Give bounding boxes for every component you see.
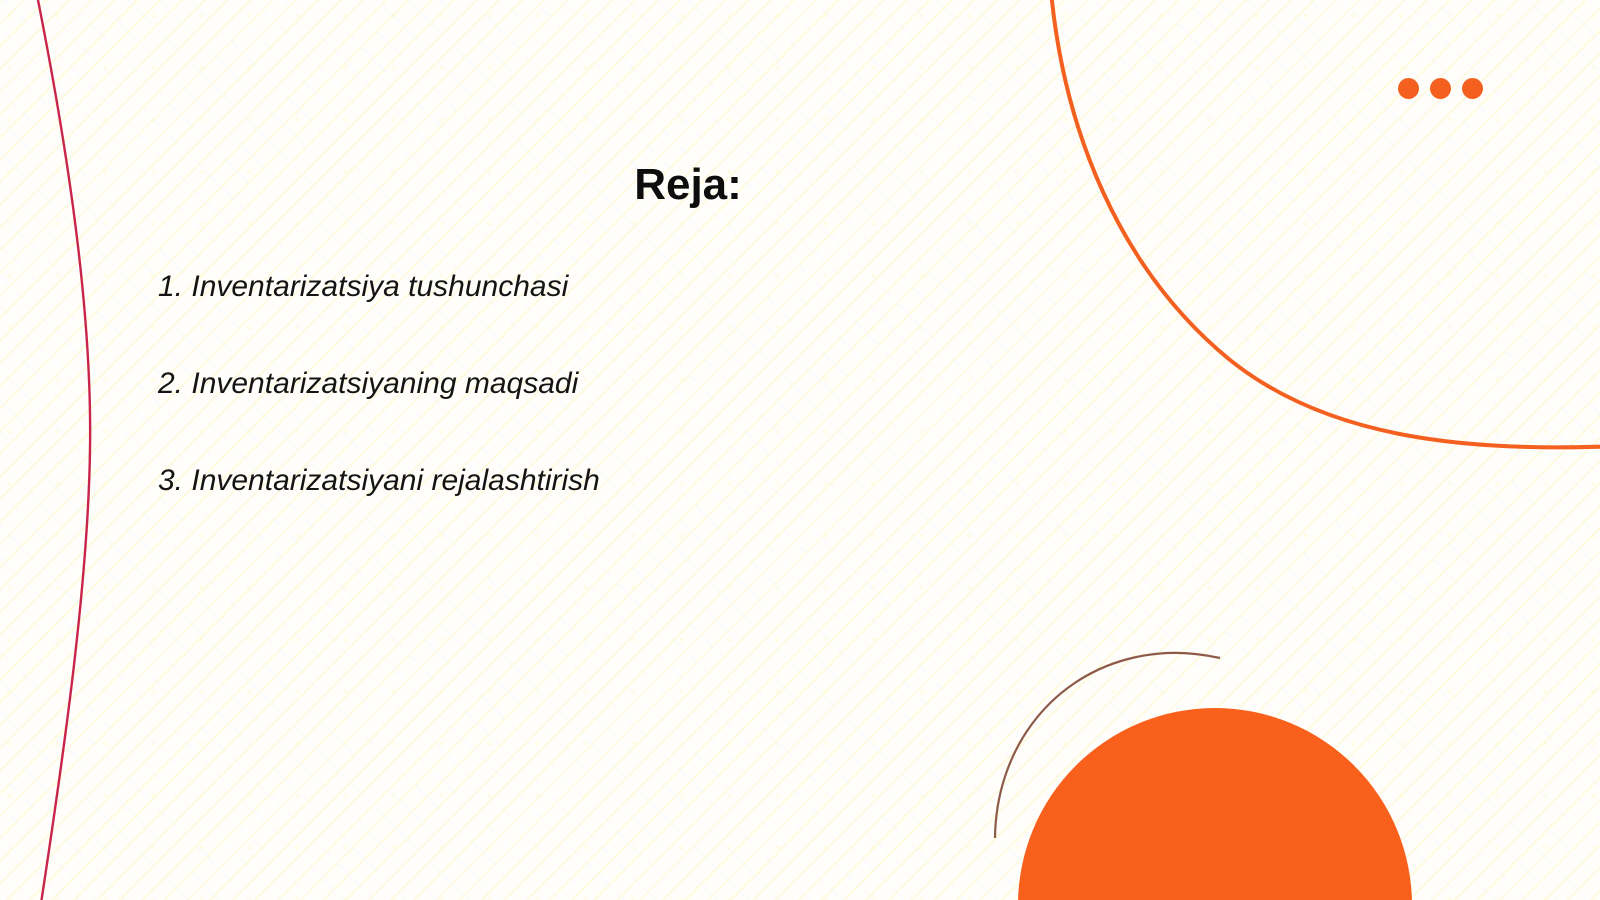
list-item: 1. Inventarizatsiya tushunchasi	[158, 272, 600, 302]
slide-content: Reja: 1. Inventarizatsiya tushunchasi 2.…	[0, 0, 1600, 900]
presentation-slide: Reja: 1. Inventarizatsiya tushunchasi 2.…	[0, 0, 1600, 900]
list-item: 3. Inventarizatsiyani rejalashtirish	[158, 466, 600, 496]
list-item: 2. Inventarizatsiyaning maqsadi	[158, 369, 600, 399]
page-title: Reja:	[0, 161, 1376, 209]
agenda-list: 1. Inventarizatsiya tushunchasi 2. Inven…	[158, 272, 600, 496]
